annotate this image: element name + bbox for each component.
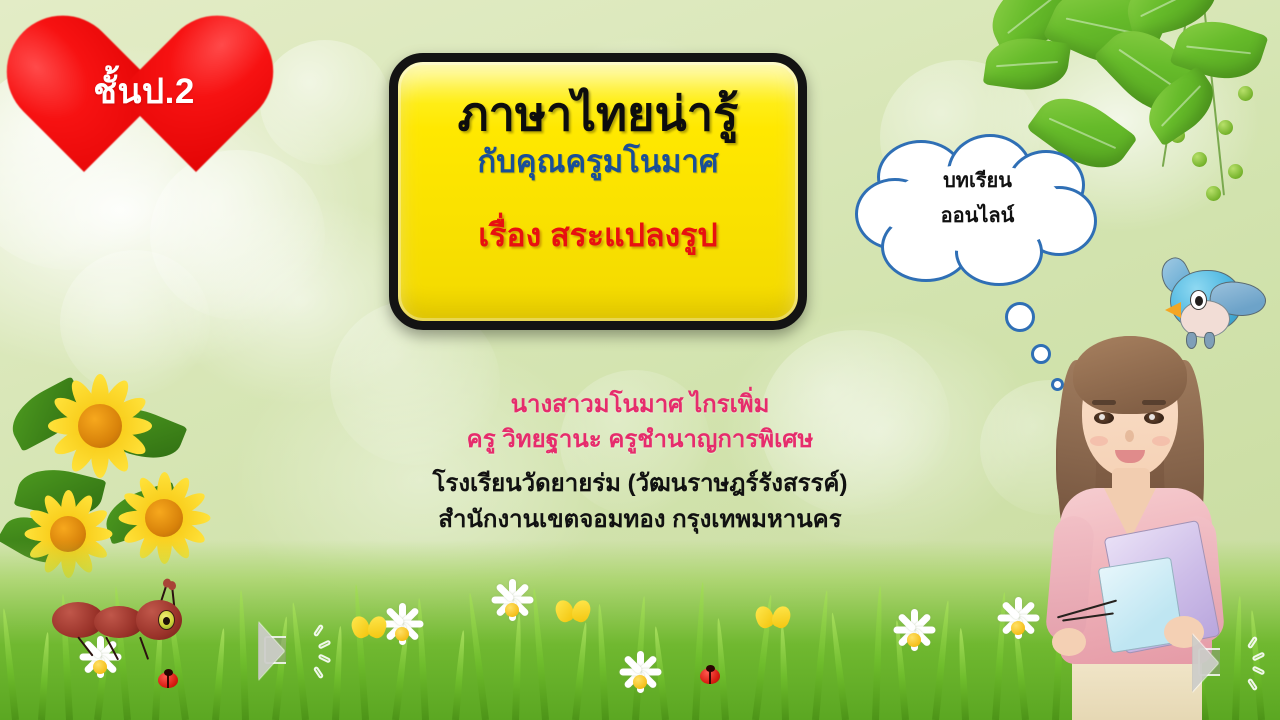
sound-wave-2 xyxy=(1252,651,1266,661)
page-subtitle: กับคุณครูมโนมาศ xyxy=(477,143,718,180)
sound-wave-3 xyxy=(318,653,332,663)
thought-bubble-text: บทเรียน ออนไลน์ xyxy=(855,164,1100,234)
grade-badge-label: ชั้นป.2 xyxy=(33,24,255,176)
ladybug-icon xyxy=(158,672,178,688)
thought-bubble-dot-large xyxy=(1005,302,1035,332)
thought-bubble-line2: ออนไลน์ xyxy=(855,199,1100,234)
speaker-left-button[interactable] xyxy=(262,620,338,684)
sound-wave-3 xyxy=(1252,665,1266,675)
eyeglasses-icon xyxy=(1052,598,1118,620)
lesson-topic: เรื่อง สระแปลงรูป xyxy=(478,216,717,254)
white-daisy xyxy=(618,660,662,704)
thought-bubble-line1: บทเรียน xyxy=(855,164,1100,199)
ladybug-icon xyxy=(700,668,720,684)
white-daisy xyxy=(490,588,534,632)
sound-wave-2 xyxy=(318,639,332,649)
sound-wave-4 xyxy=(313,666,324,680)
presentation-slide: ชั้นป.2 ภาษาไทยน่ารู้ กับคุณครูมโนมาศ เร… xyxy=(0,0,1280,720)
yellow-butterfly xyxy=(556,600,590,628)
speaker-cone xyxy=(1192,634,1218,692)
thought-bubble: บทเรียน ออนไลน์ xyxy=(855,140,1100,300)
yellow-butterfly xyxy=(352,616,386,644)
red-ant-icon xyxy=(48,580,198,660)
sound-wave-1 xyxy=(1247,636,1258,650)
page-title: ภาษาไทยน่ารู้ xyxy=(458,88,739,141)
white-daisy xyxy=(892,618,936,662)
yellow-butterfly xyxy=(756,606,790,634)
speaker-right-button[interactable] xyxy=(1196,632,1272,696)
speaker-cone xyxy=(258,622,284,680)
title-card: ภาษาไทยน่ารู้ กับคุณครูมโนมาศ เรื่อง สระ… xyxy=(389,53,807,330)
grade-badge: ชั้นป.2 xyxy=(33,24,255,176)
sound-wave-1 xyxy=(313,624,324,638)
sound-wave-4 xyxy=(1247,678,1258,692)
white-daisy xyxy=(380,612,424,656)
